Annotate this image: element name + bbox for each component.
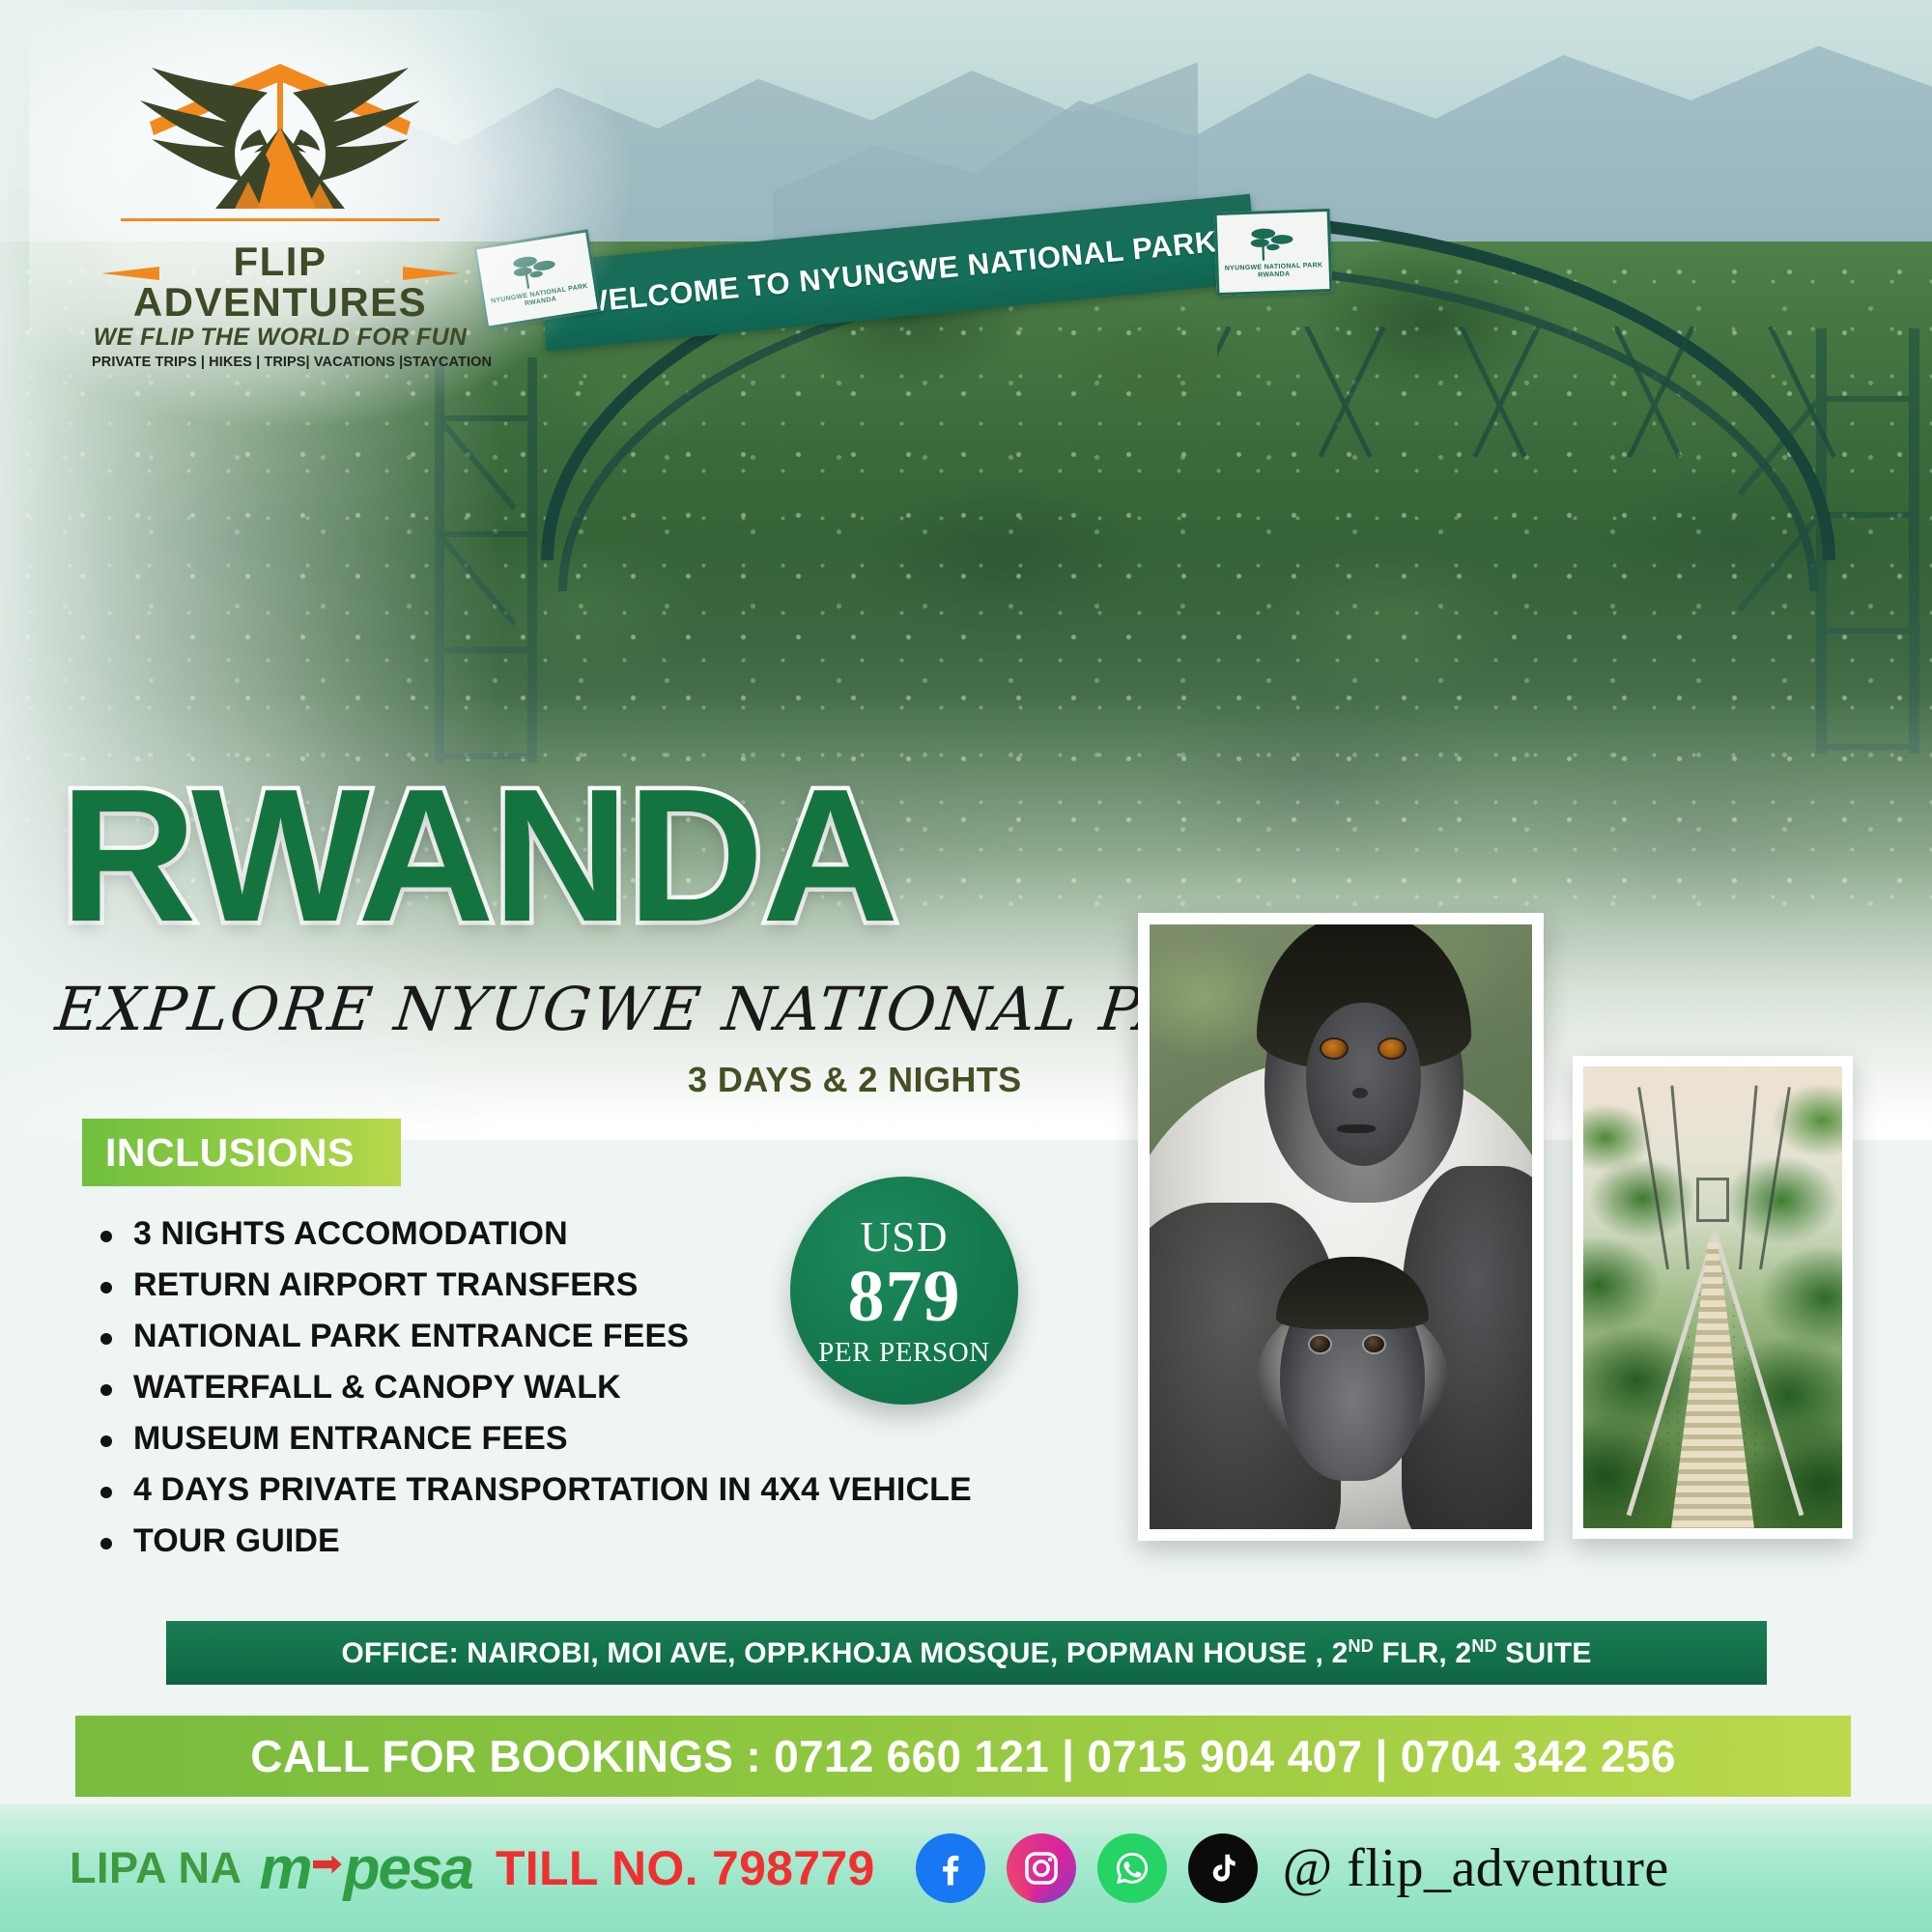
inclusion-label: 4 DAYS PRIVATE TRANSPORTATION IN 4X4 VEH… xyxy=(133,1471,972,1509)
inclusion-label: NATIONAL PARK ENTRANCE FEES xyxy=(133,1318,689,1355)
office-address-text: OFFICE: NAIROBI, MOI AVE, OPP.KHOJA MOSQ… xyxy=(341,1636,1591,1670)
social-icon-row xyxy=(916,1833,1258,1903)
call-for-bookings-bar[interactable]: CALL FOR BOOKINGS : 0712 660 121 | 0715 … xyxy=(75,1716,1851,1797)
park-tree-icon xyxy=(1244,224,1301,265)
baby-monkey-eye-left xyxy=(1310,1336,1330,1352)
monkey-eye-right xyxy=(1379,1039,1405,1058)
inclusion-label: WATERFALL & CANOPY WALK xyxy=(133,1369,621,1406)
monkey-photo-card xyxy=(1138,913,1544,1541)
canopy-walk-photo xyxy=(1583,1066,1842,1528)
logo-divider-rule xyxy=(121,218,440,221)
mpesa-m-letter: m xyxy=(260,1834,311,1903)
bullet-icon xyxy=(100,1384,112,1396)
whatsapp-icon[interactable] xyxy=(1097,1833,1167,1903)
call-for-bookings-text: CALL FOR BOOKINGS : 0712 660 121 | 0715 … xyxy=(250,1730,1675,1782)
park-logo-panel-caption: NYUNGWE NATIONAL PARK RWANDA xyxy=(1218,262,1328,281)
eagle-wings-mountain-logo-icon xyxy=(92,46,469,240)
bullet-icon xyxy=(100,1333,112,1345)
baby-monkey-eye-right xyxy=(1364,1336,1384,1352)
bullet-icon xyxy=(100,1231,112,1242)
list-item: TOUR GUIDE xyxy=(100,1522,1076,1560)
price-badge: USD 879 PER PERSON xyxy=(790,1177,1018,1405)
bullet-icon xyxy=(100,1282,112,1293)
till-number-text: TILL NO. 798779 xyxy=(496,1840,875,1896)
page-title: RWANDA xyxy=(60,761,896,951)
inclusion-label: 3 NIGHTS ACCOMODATION xyxy=(133,1215,568,1253)
park-logo-panel-right: NYUNGWE NATIONAL PARK RWANDA xyxy=(1214,209,1333,296)
trip-duration: 3 DAYS & 2 NIGHTS xyxy=(688,1060,1022,1100)
page-subtitle: EXPLORE NYUGWE NATIONAL PARK xyxy=(52,974,1279,1044)
inclusions-heading-label: INCLUSIONS xyxy=(105,1130,355,1176)
mpesa-pesa-text: pesa xyxy=(344,1834,472,1903)
canopy-walk-photo-card xyxy=(1573,1056,1853,1539)
inclusion-label: RETURN AIRPORT TRANSFERS xyxy=(133,1266,638,1304)
bullet-icon xyxy=(100,1487,112,1498)
instagram-icon[interactable] xyxy=(1007,1833,1076,1903)
monkey-photo xyxy=(1150,924,1532,1529)
mpesa-logo: m pesa xyxy=(260,1834,472,1903)
footer-bar: LIPA NA m pesa TILL NO. 798779 xyxy=(0,1804,1932,1932)
gate-truss xyxy=(1217,327,1835,471)
bullet-icon xyxy=(100,1538,112,1549)
list-item: 4 DAYS PRIVATE TRANSPORTATION IN 4X4 VEH… xyxy=(100,1471,1076,1509)
logo-services-line: PRIVATE TRIPS | HIKES | TRIPS| VACATIONS… xyxy=(92,355,469,370)
logo-tagline: WE FLIP THE WORLD FOR FUN xyxy=(92,323,469,352)
monkey-eye-left xyxy=(1321,1039,1347,1058)
company-logo: FLIP ADVENTURES WE FLIP THE WORLD FOR FU… xyxy=(92,46,469,327)
price-currency: USD xyxy=(860,1216,948,1259)
inclusions-heading-badge: INCLUSIONS xyxy=(82,1119,401,1186)
logo-company-name: FLIP ADVENTURES xyxy=(92,241,469,323)
list-item: MUSEUM ENTRANCE FEES xyxy=(100,1420,1076,1458)
poster-root: WELCOME TO NYUNGWE NATIONAL PARK NYUNGWE… xyxy=(0,0,1932,1932)
office-address-bar: OFFICE: NAIROBI, MOI AVE, OPP.KHOJA MOSQ… xyxy=(166,1621,1767,1685)
social-handle: @ flip_adventure xyxy=(1283,1837,1669,1899)
inclusion-label: MUSEUM ENTRANCE FEES xyxy=(133,1420,568,1458)
bullet-icon xyxy=(100,1435,112,1447)
mpesa-arrow-icon xyxy=(313,1856,342,1874)
inclusion-label: TOUR GUIDE xyxy=(133,1522,340,1560)
lipa-na-label: LIPA NA xyxy=(70,1843,242,1893)
tiktok-icon[interactable] xyxy=(1188,1833,1258,1903)
price-unit: PER PERSON xyxy=(818,1337,990,1369)
facebook-icon[interactable] xyxy=(916,1833,985,1903)
price-amount: 879 xyxy=(848,1259,961,1336)
